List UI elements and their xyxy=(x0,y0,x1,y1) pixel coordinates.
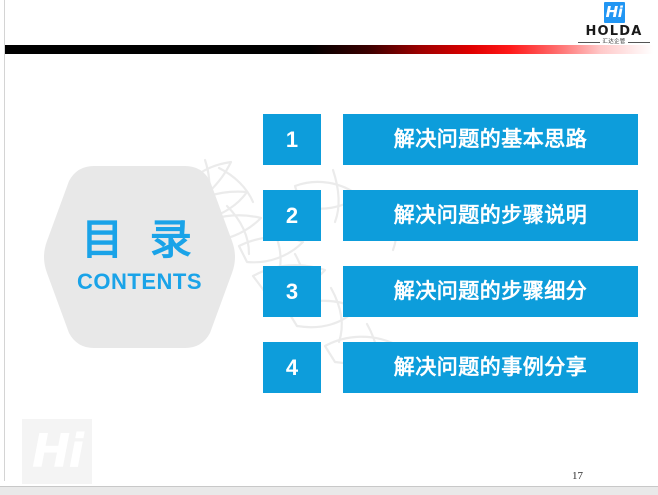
subtitle-rule-left xyxy=(578,42,600,43)
contents-item-number: 1 xyxy=(263,114,321,165)
contents-item-title[interactable]: 解决问题的基本思路 xyxy=(343,114,638,165)
logo-hi-letters: Hi xyxy=(604,2,625,23)
brand-logo-icon: Hi xyxy=(604,2,625,23)
contents-item-number: 2 xyxy=(263,190,321,241)
contents-item-number: 3 xyxy=(263,266,321,317)
contents-hexagon-badge: 目 录 CONTENTS xyxy=(42,162,237,352)
page-number: 17 xyxy=(572,470,583,482)
brand-logo: Hi HOLDA 汇达企管 xyxy=(578,2,650,46)
slide-canvas: Hi HOLDA 汇达企管 xyxy=(0,0,658,495)
header-gradient-rule xyxy=(5,45,653,54)
logo-watermark: Hi xyxy=(22,419,92,484)
contents-list: 1 解决问题的基本思路 2 解决问题的步骤说明 3 解决问题的步骤细分 4 解决… xyxy=(263,114,638,393)
contents-item-4[interactable]: 4 解决问题的事例分享 xyxy=(263,342,638,393)
subtitle-rule-right xyxy=(628,42,650,43)
watermark-hi-letters: Hi xyxy=(22,419,92,484)
hexagon-text-block: 目 录 CONTENTS xyxy=(42,216,237,296)
contents-title-cn: 目 录 xyxy=(42,216,237,264)
slide-left-border xyxy=(4,0,5,481)
contents-item-title[interactable]: 解决问题的步骤说明 xyxy=(343,190,638,241)
contents-title-en: CONTENTS xyxy=(42,268,237,296)
contents-item-3[interactable]: 3 解决问题的步骤细分 xyxy=(263,266,638,317)
contents-item-title[interactable]: 解决问题的步骤细分 xyxy=(343,266,638,317)
contents-item-title[interactable]: 解决问题的事例分享 xyxy=(343,342,638,393)
contents-item-2[interactable]: 2 解决问题的步骤说明 xyxy=(263,190,638,241)
brand-wordmark: HOLDA xyxy=(578,25,650,39)
contents-item-1[interactable]: 1 解决问题的基本思路 xyxy=(263,114,638,165)
slide-bottom-border xyxy=(0,486,658,495)
contents-item-number: 4 xyxy=(263,342,321,393)
